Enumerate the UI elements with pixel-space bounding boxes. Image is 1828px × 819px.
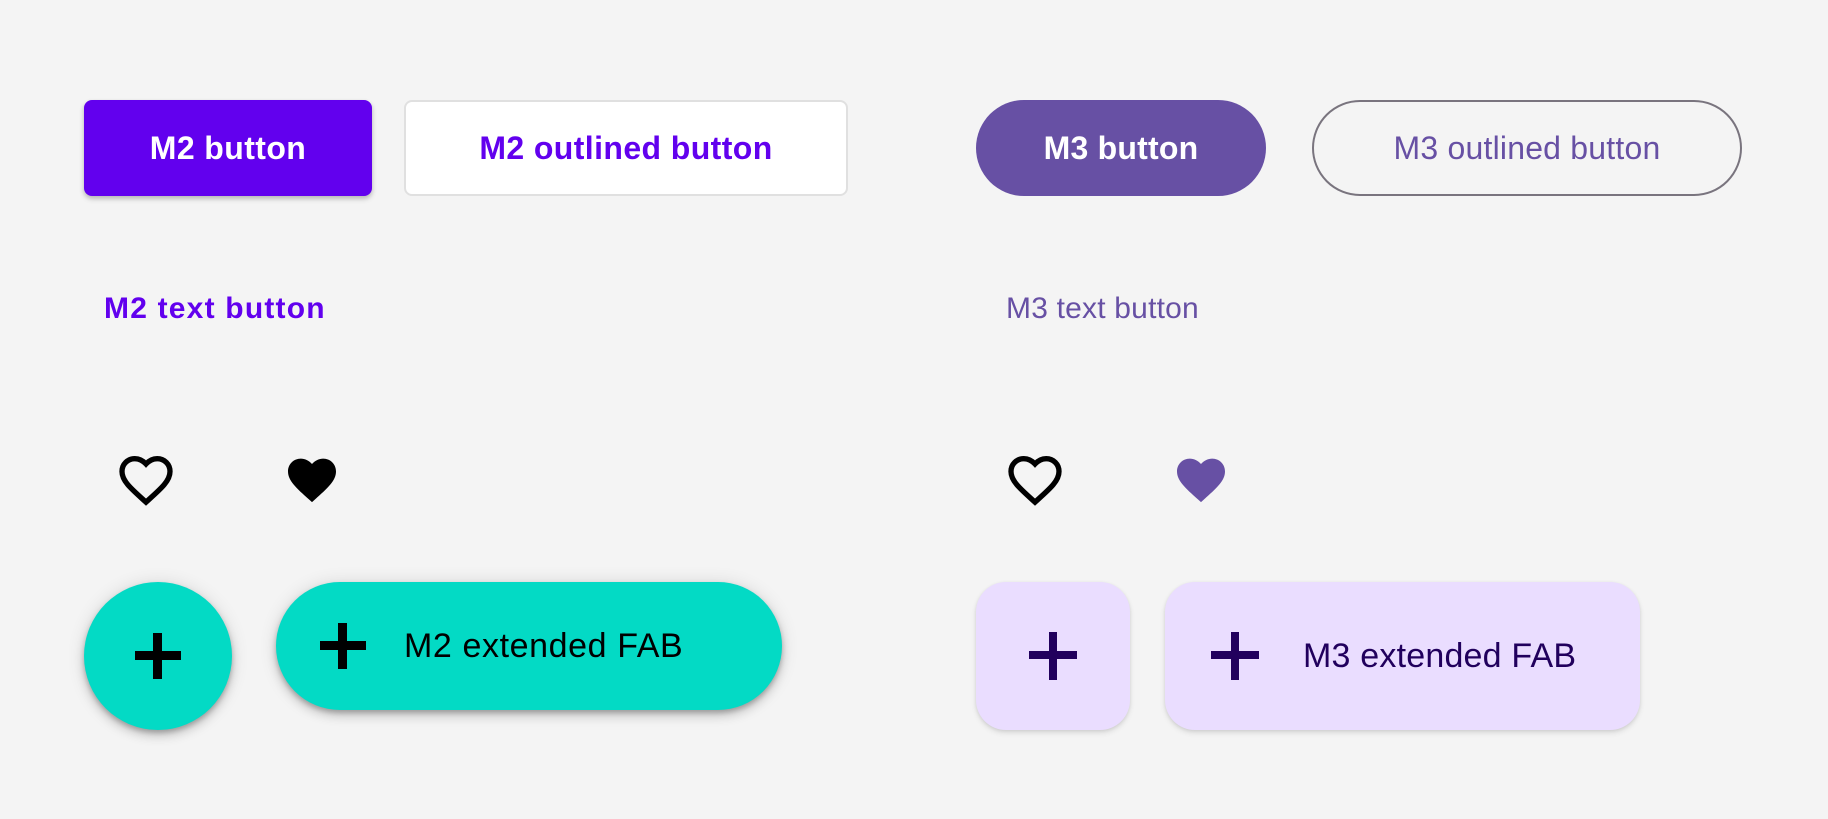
plus-icon [1029, 632, 1077, 680]
m2-outlined-button[interactable]: M2 outlined button [404, 100, 848, 196]
plus-icon [320, 623, 366, 669]
heart-outline-icon [114, 448, 178, 512]
m3-extended-fab-label: M3 extended FAB [1303, 637, 1576, 676]
m3-outlined-button[interactable]: M3 outlined button [1312, 100, 1742, 196]
m2-heart-outline-icon-button[interactable] [114, 448, 178, 512]
m3-heart-filled-icon-button[interactable] [1169, 448, 1233, 512]
plus-icon [135, 633, 181, 679]
m2-extended-fab[interactable]: M2 extended FAB [276, 582, 782, 710]
m3-filled-button-label: M3 button [1044, 130, 1199, 167]
m3-extended-fab[interactable]: M3 extended FAB [1165, 582, 1640, 730]
heart-filled-icon [1169, 448, 1233, 512]
heart-outline-icon [1003, 448, 1067, 512]
heart-filled-icon [280, 448, 344, 512]
component-showcase-canvas: M2 button M2 outlined button M2 text but… [0, 0, 1828, 819]
m2-outlined-button-label: M2 outlined button [479, 130, 772, 167]
m3-outlined-button-label: M3 outlined button [1394, 130, 1661, 167]
m3-fab[interactable] [976, 582, 1130, 730]
plus-icon [1211, 632, 1259, 680]
m2-heart-filled-icon-button[interactable] [280, 448, 344, 512]
m2-filled-button[interactable]: M2 button [84, 100, 372, 196]
m3-heart-outline-icon-button[interactable] [1003, 448, 1067, 512]
m2-fab[interactable] [84, 582, 232, 730]
m2-text-button[interactable]: M2 text button [104, 292, 326, 326]
m2-extended-fab-label: M2 extended FAB [404, 627, 683, 666]
m3-text-button[interactable]: M3 text button [1006, 292, 1199, 326]
m2-filled-button-label: M2 button [150, 130, 306, 167]
m3-filled-button[interactable]: M3 button [976, 100, 1266, 196]
